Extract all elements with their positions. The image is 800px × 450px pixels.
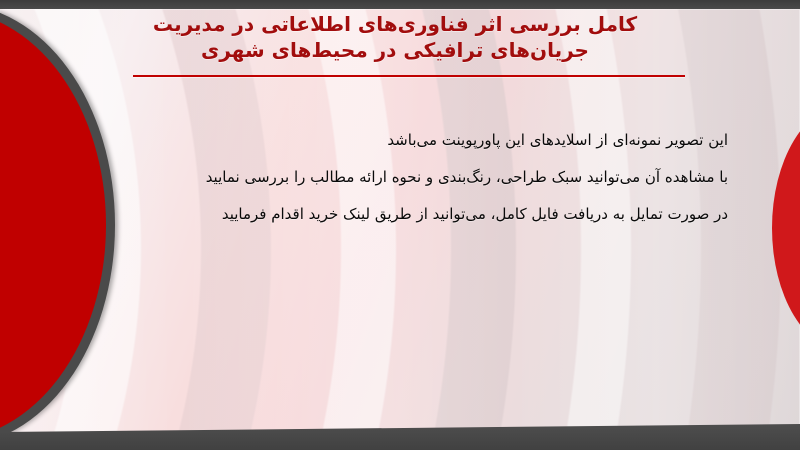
slide-title-line-1: کامل بررسی اثر فناوری‌های اطلاعاتی در مد… — [95, 11, 695, 37]
body-line-3: در صورت تمایل به دریافت فایل کامل، می‌تو… — [88, 196, 728, 233]
title-underline-rule — [133, 75, 685, 77]
body-line-2: با مشاهده آن می‌توانید سبک طراحی، رنگ‌بن… — [88, 159, 728, 196]
top-frame-bar — [0, 0, 800, 9]
body-line-1: این تصویر نمونه‌ای از اسلایدهای این پاور… — [88, 122, 728, 159]
slide-title: کامل بررسی اثر فناوری‌های اطلاعاتی در مد… — [95, 11, 695, 63]
presentation-slide: کامل بررسی اثر فناوری‌های اطلاعاتی در مد… — [0, 0, 800, 450]
slide-title-line-2: جریان‌های ترافیکی در محیط‌های شهری — [95, 37, 695, 63]
slide-body-text: این تصویر نمونه‌ای از اسلایدهای این پاور… — [88, 122, 728, 232]
